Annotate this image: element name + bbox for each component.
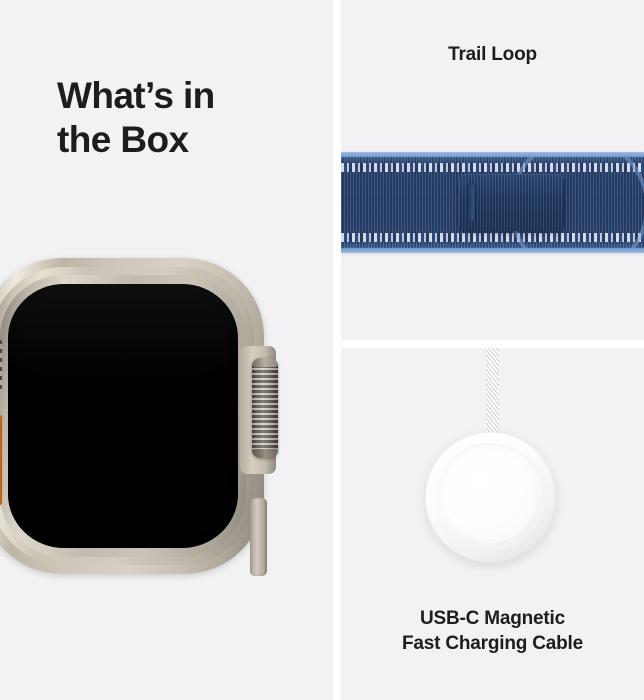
band-loop-keeper [459, 174, 564, 231]
page-title-line-1: What’s in [57, 74, 317, 118]
watch-side-button [250, 498, 267, 576]
page-title: What’s in the Box [57, 74, 317, 162]
watch-screen-gloss [8, 284, 238, 379]
band-edge-top [341, 152, 644, 157]
band-loop-weave-texture [459, 174, 564, 231]
watch-screen [8, 284, 238, 548]
watch-digital-crown-ridges [252, 363, 278, 453]
watch-action-button [0, 414, 2, 506]
watch-digital-crown-cap-top [252, 358, 278, 367]
watch-digital-crown-cap-bottom [252, 449, 278, 458]
apple-watch-ultra-image [0, 258, 282, 576]
watch-case [0, 258, 264, 574]
page-title-line-2: the Box [57, 118, 317, 162]
band-loop-tab [467, 183, 474, 222]
watch-digital-crown [252, 358, 278, 458]
charging-cable-label-line-1: USB-C Magnetic [341, 606, 644, 631]
trail-loop-band-image [341, 152, 644, 253]
panel-trail-loop: Trail Loop [341, 0, 644, 340]
trail-loop-label: Trail Loop [341, 42, 644, 67]
charging-puck-face [445, 452, 536, 543]
charging-cable-label: USB-C Magnetic Fast Charging Cable [341, 606, 644, 656]
whats-in-the-box-layout: What’s in the Box Trail Loop [0, 0, 644, 700]
band-edge-bottom [341, 248, 644, 253]
watch-speaker-grille-icon [0, 340, 2, 392]
charging-puck-ring [436, 443, 545, 552]
charging-puck [425, 432, 556, 563]
charging-cable-label-line-2: Fast Charging Cable [341, 631, 644, 656]
panel-watch: What’s in the Box [0, 0, 333, 700]
